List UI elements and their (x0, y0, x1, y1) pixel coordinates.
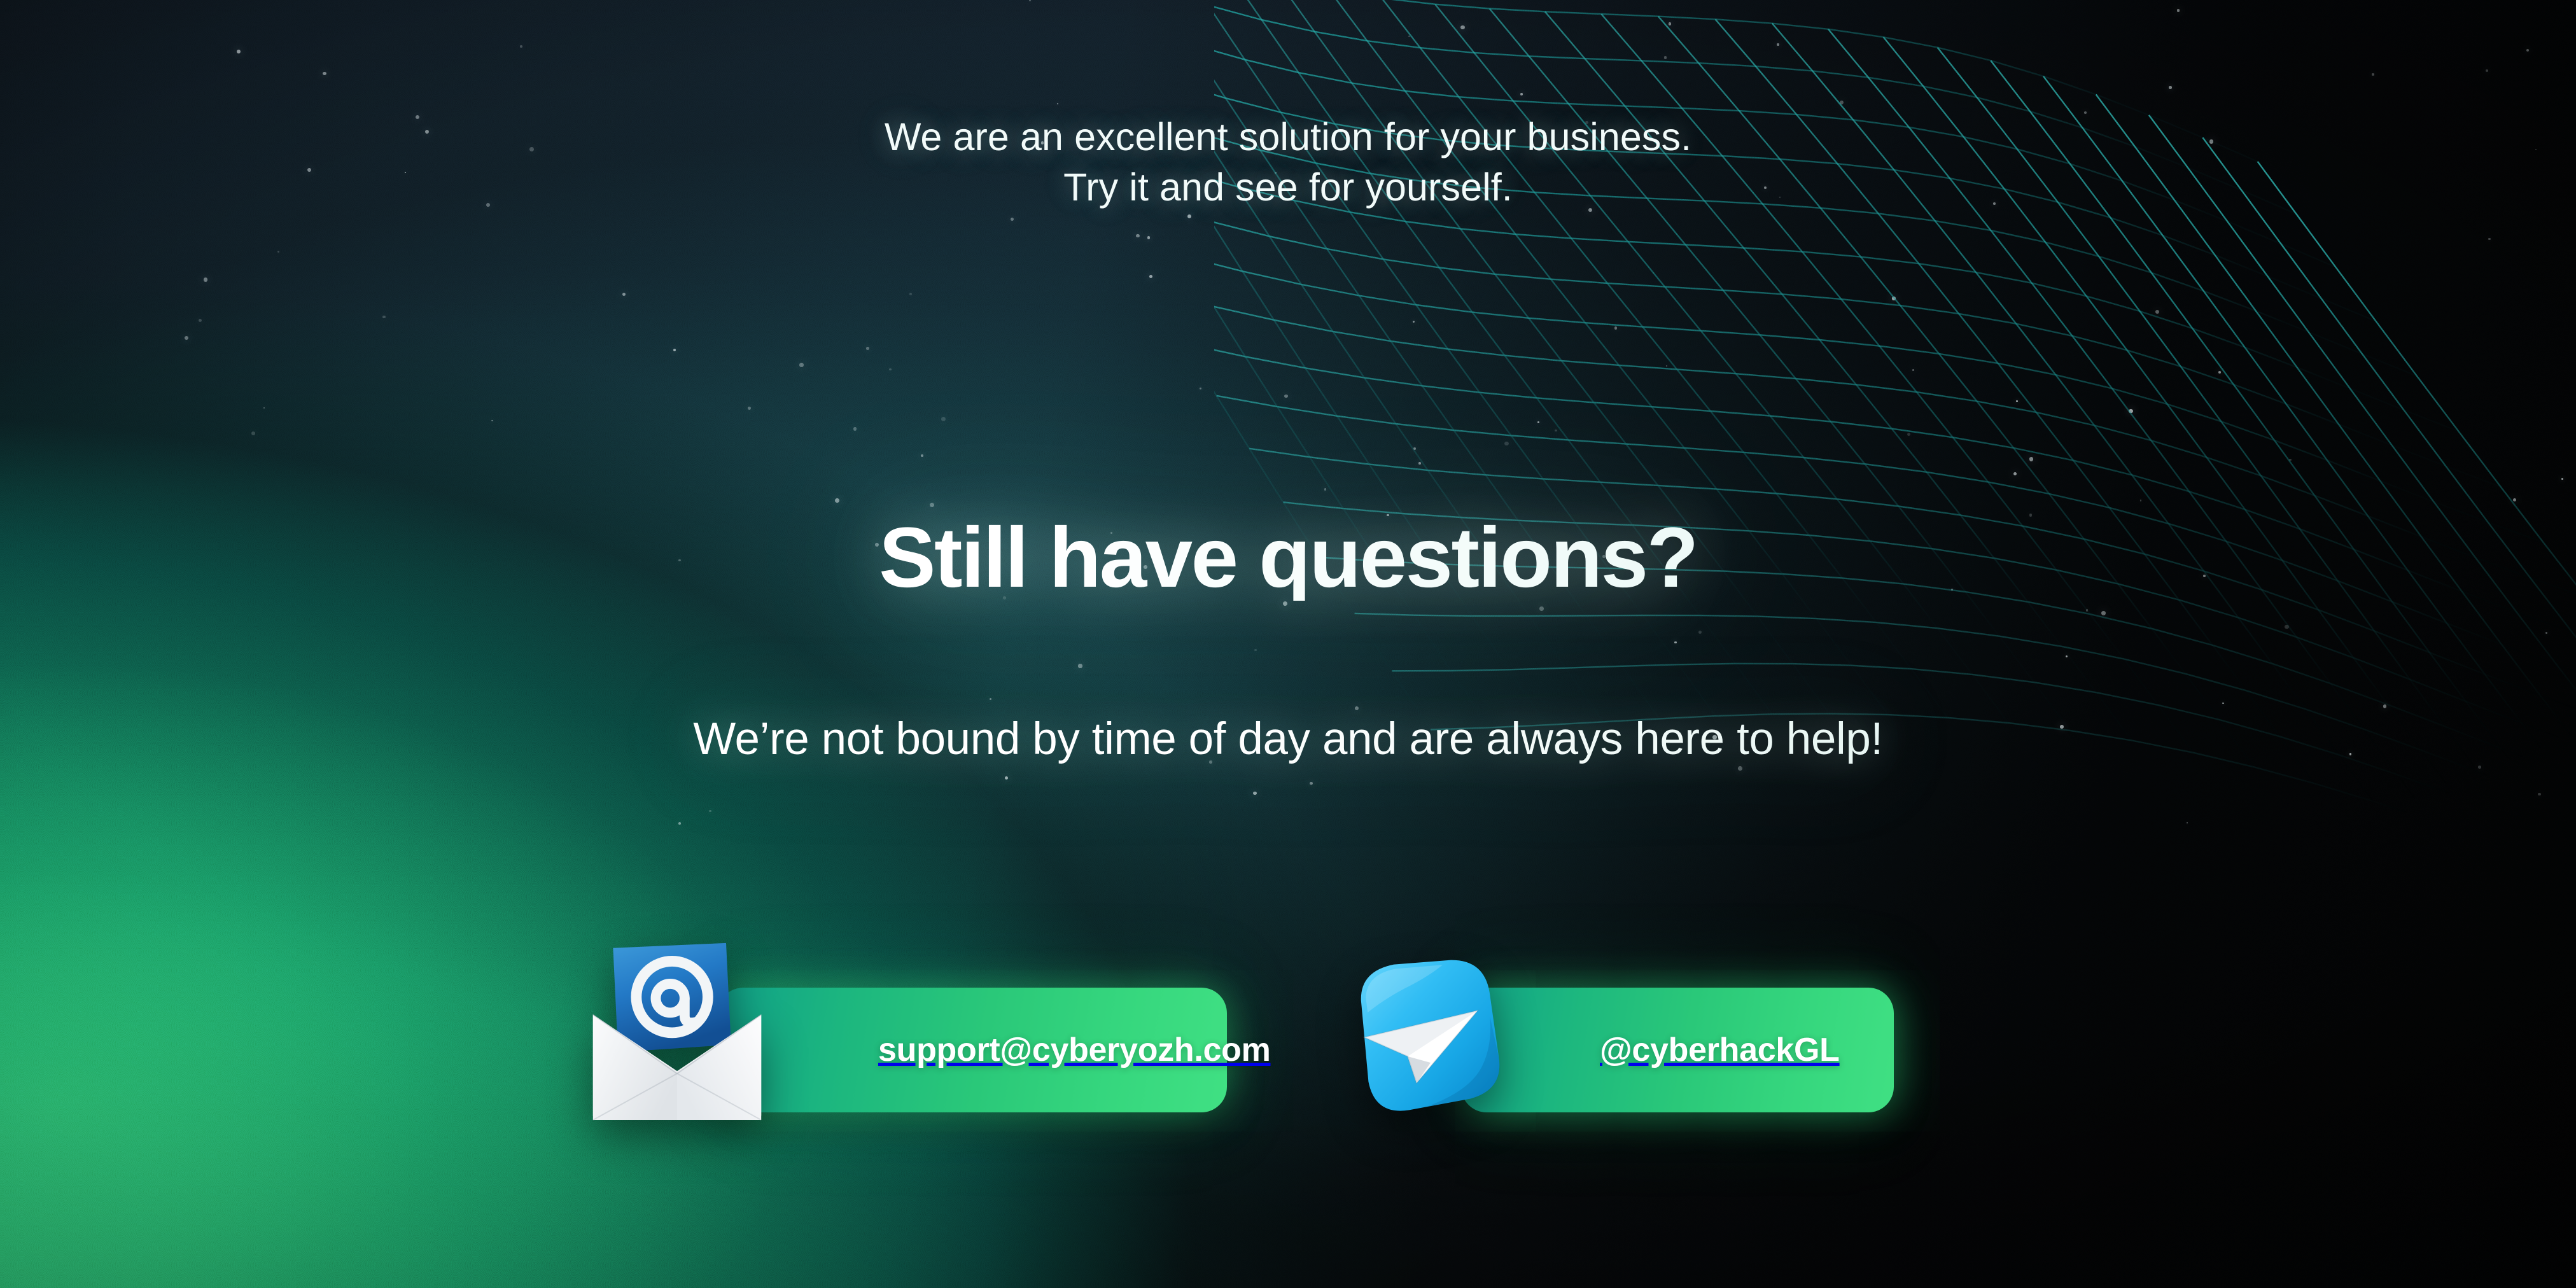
contact-chip-email-label: support@cyberyozh.com (878, 1031, 1271, 1069)
envelope-at-icon (583, 934, 771, 1123)
contact-chip-email[interactable]: support@cyberyozh.com (718, 988, 1227, 1112)
hero-banner: We are an excellent solution for your bu… (0, 0, 2576, 1288)
hero-eyebrow: We are an excellent solution for your bu… (0, 112, 2576, 213)
hero-content: We are an excellent solution for your bu… (0, 0, 2576, 1288)
hero-eyebrow-line1: We are an excellent solution for your bu… (885, 115, 1691, 158)
hero-subheading: We’re not bound by time of day and are a… (0, 716, 2576, 764)
contact-chip-group: support@cyberyozh.com (510, 974, 1999, 1126)
contact-chip-telegram-label: @cyberhackGL (1600, 1031, 1840, 1069)
contact-chip-telegram[interactable]: @cyberhackGL (1461, 988, 1894, 1112)
page-title: Still have questions? (0, 515, 2576, 601)
telegram-plane-icon (1341, 948, 1513, 1120)
hero-eyebrow-line2: Try it and see for yourself. (0, 162, 2576, 213)
